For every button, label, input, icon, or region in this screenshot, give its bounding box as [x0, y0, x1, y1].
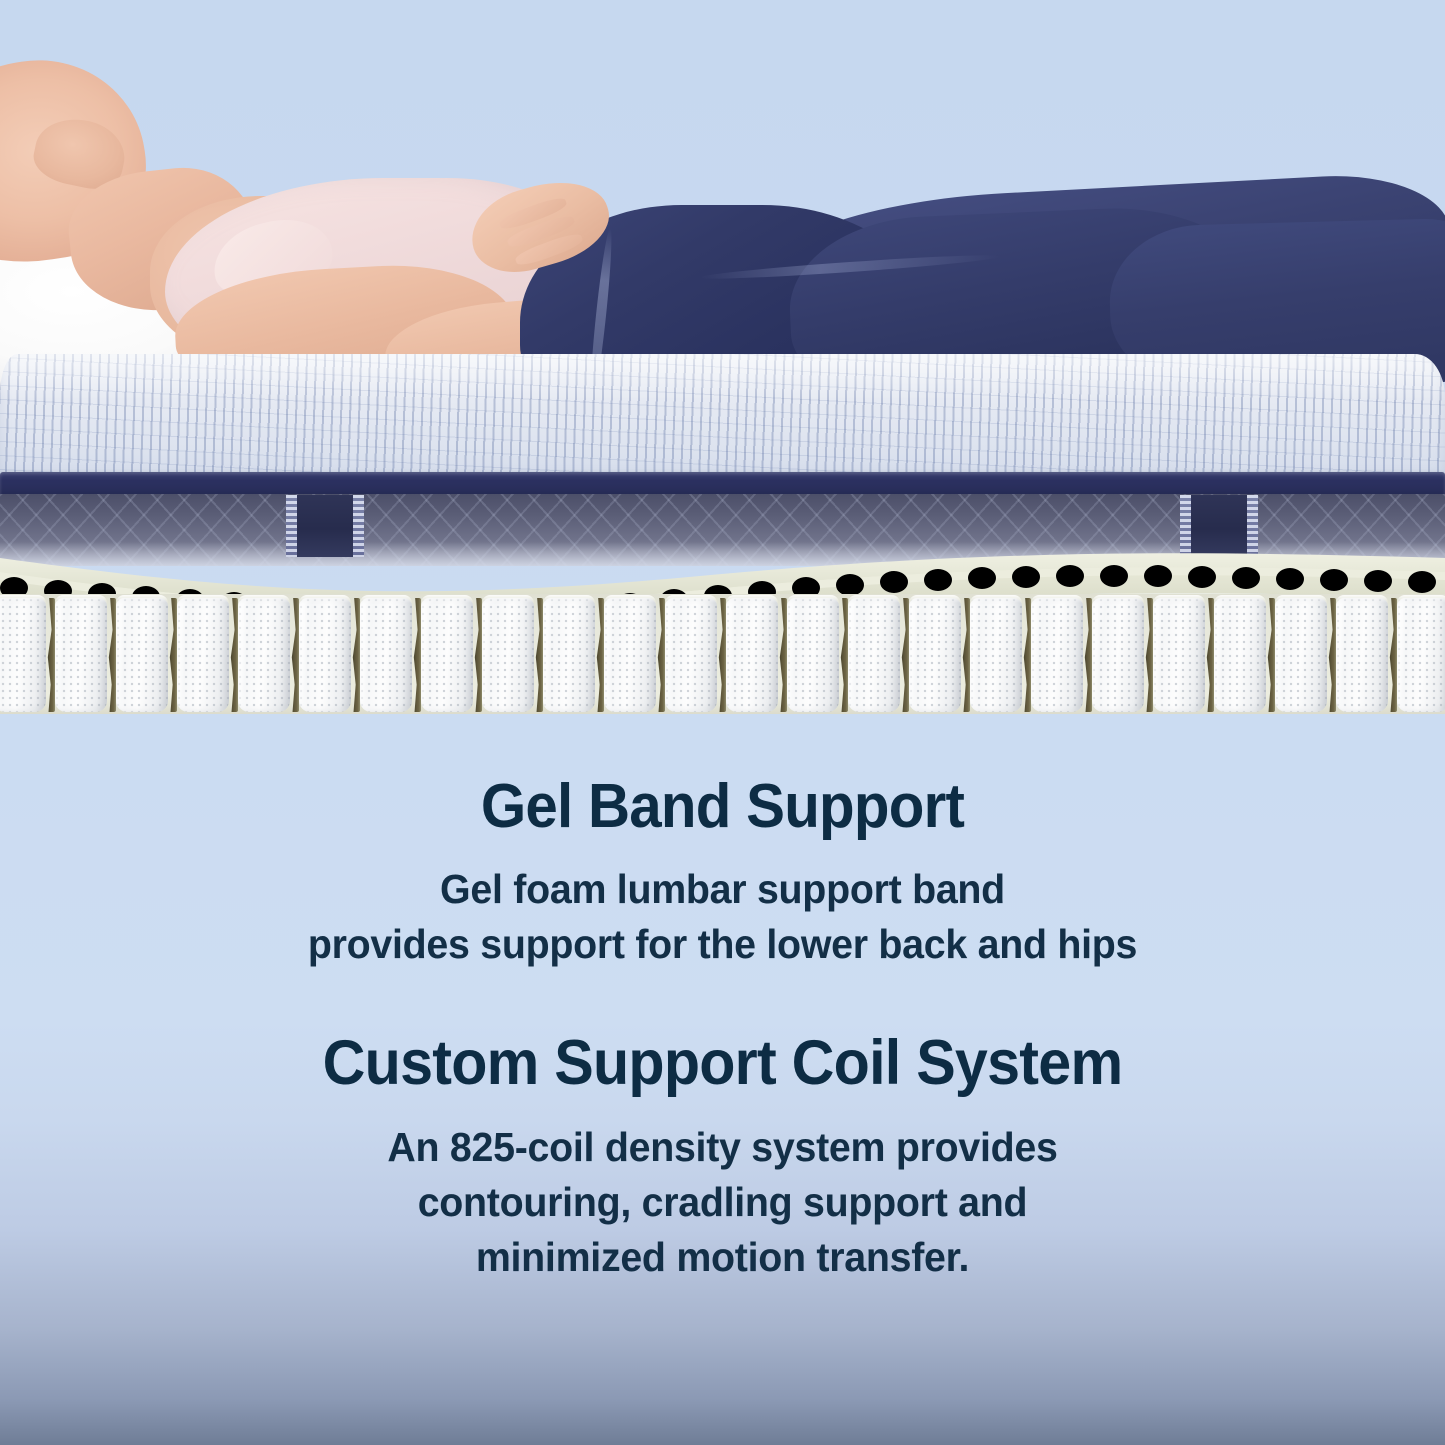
feature-description: An 825-coil density system provides cont… — [29, 1120, 1416, 1285]
pocketed-coil — [360, 598, 412, 712]
pocketed-coil — [1031, 598, 1083, 712]
pocketed-coil — [665, 598, 717, 712]
pocketed-coil — [177, 598, 229, 712]
mattress-feature-panel: Gel Band Support Gel foam lumbar support… — [0, 0, 1445, 1445]
quilted-pillow-top-layer — [0, 354, 1445, 484]
pocketed-coil — [0, 598, 46, 712]
mattress-hero-photo — [0, 0, 1445, 714]
carry-handle — [286, 495, 364, 557]
feature-description-line: contouring, cradling support and — [29, 1175, 1416, 1230]
pocketed-coil — [970, 598, 1022, 712]
pocketed-coil — [1275, 598, 1327, 712]
pocketed-coil — [848, 598, 900, 712]
mattress-cutaway — [0, 354, 1445, 714]
pocketed-coil — [55, 598, 107, 712]
pocketed-coil — [1397, 598, 1445, 712]
feature-title: Gel Band Support — [43, 774, 1401, 840]
pocketed-coil — [604, 598, 656, 712]
pocketed-coil — [726, 598, 778, 712]
pocketed-coil — [116, 598, 168, 712]
feature-description-line: An 825-coil density system provides — [29, 1120, 1416, 1175]
pocketed-coil — [421, 598, 473, 712]
pocketed-coil — [543, 598, 595, 712]
pocketed-coil — [238, 598, 290, 712]
support-coil-deck — [0, 594, 1445, 714]
pocketed-coil — [1092, 598, 1144, 712]
pocketed-coil — [1153, 598, 1205, 712]
feature-description-line: minimized motion transfer. — [29, 1230, 1416, 1285]
feature-description-line: Gel foam lumbar support band — [29, 862, 1416, 917]
pocketed-coil — [299, 598, 351, 712]
pocketed-coil-row — [0, 596, 1445, 712]
feature-block-gel-band-support: Gel Band Support Gel foam lumbar support… — [0, 714, 1445, 972]
feature-text-panel: Gel Band Support Gel foam lumbar support… — [0, 714, 1445, 1445]
pocketed-coil — [482, 598, 534, 712]
carry-handle — [1180, 495, 1258, 557]
feature-description-line: provides support for the lower back and … — [29, 917, 1416, 972]
feature-title: Custom Support Coil System — [43, 1030, 1401, 1097]
pocketed-coil — [1336, 598, 1388, 712]
pocketed-coil — [909, 598, 961, 712]
pocketed-coil — [787, 598, 839, 712]
pocketed-coil — [1214, 598, 1266, 712]
feature-description: Gel foam lumbar support band provides su… — [29, 862, 1416, 972]
feature-block-custom-support-coil-system: Custom Support Coil System An 825-coil d… — [0, 972, 1445, 1286]
